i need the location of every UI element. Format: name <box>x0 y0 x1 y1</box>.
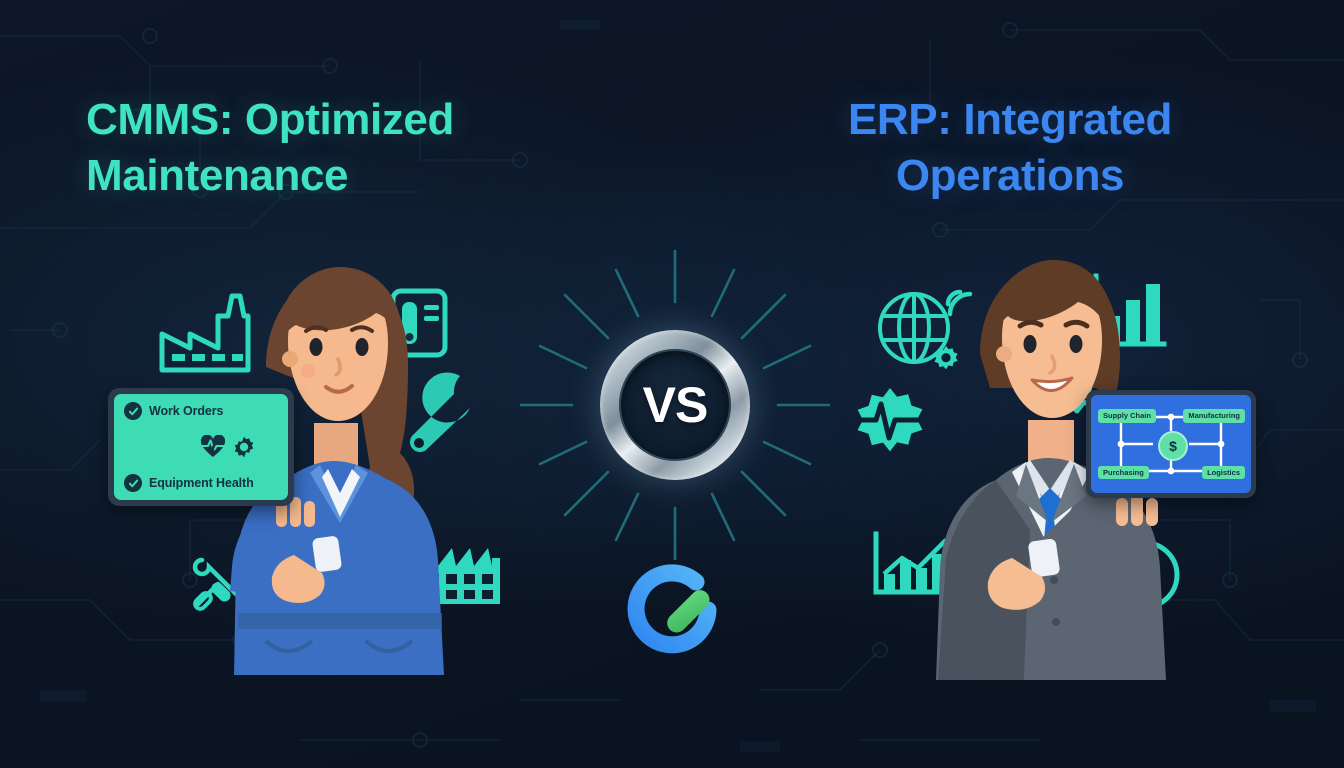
gear-icon <box>232 435 256 459</box>
vs-badge-inner: VS <box>619 349 731 461</box>
node-supply-chain[interactable]: Supply Chain <box>1098 409 1156 423</box>
vs-badge: VS <box>600 330 750 480</box>
circular-check-logo <box>618 556 726 664</box>
cmms-tablet[interactable]: Work Orders <box>108 388 294 506</box>
work-orders-label: Work Orders <box>149 404 223 418</box>
vs-label: VS <box>643 376 708 434</box>
heart-pulse-icon <box>200 435 226 459</box>
erp-scene: Supply Chain Manufacturing Purchasing Lo… <box>830 0 1310 768</box>
cmms-tablet-screen: Work Orders <box>114 394 288 500</box>
node-manufacturing[interactable]: Manufacturing <box>1183 409 1245 423</box>
check-circle-icon <box>124 402 142 420</box>
node-purchasing[interactable]: Purchasing <box>1098 466 1149 480</box>
node-logistics[interactable]: Logistics <box>1202 466 1245 480</box>
erp-tablet-screen: Supply Chain Manufacturing Purchasing Lo… <box>1091 395 1251 493</box>
tablet-mid-icons <box>124 435 278 459</box>
cmms-scene: Work Orders <box>40 0 510 768</box>
erp-tablet[interactable]: Supply Chain Manufacturing Purchasing Lo… <box>1086 390 1256 498</box>
equipment-health-row[interactable]: Equipment Health <box>124 474 278 492</box>
versus-badge-group: VS <box>520 250 830 560</box>
infographic-canvas: CMMS: Optimized Maintenance ERP: Integra… <box>0 0 1344 768</box>
erp-hub-node: $ <box>1158 431 1188 461</box>
work-orders-row[interactable]: Work Orders <box>124 402 278 420</box>
check-circle-icon <box>124 474 142 492</box>
equipment-health-label: Equipment Health <box>149 476 254 490</box>
